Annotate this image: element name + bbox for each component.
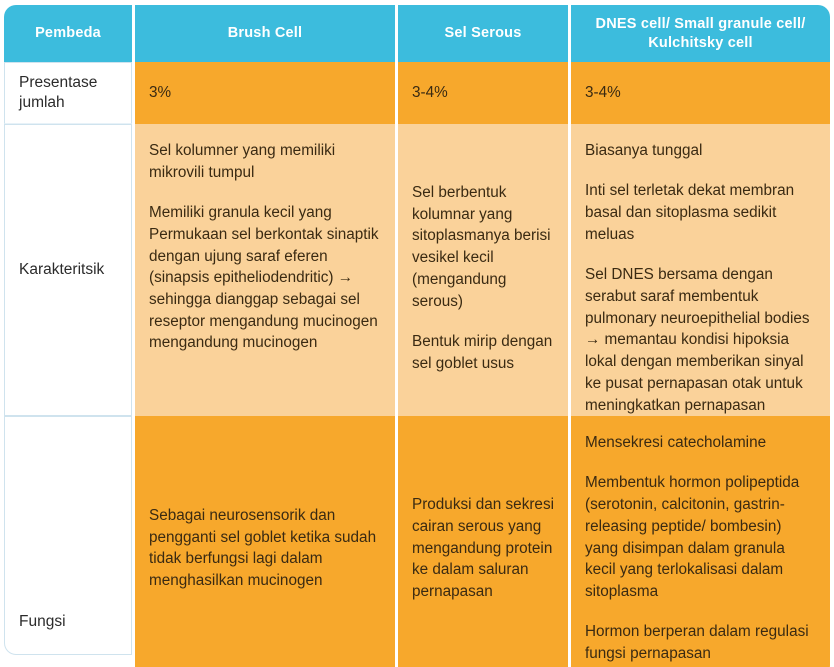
row-label-karakteritsik: Karakteritsik <box>4 124 132 416</box>
row-label-text: Fungsi <box>19 612 66 632</box>
cell-karakteritsik-sel-serous: Sel berbentuk kolumnar yang sitoplasmany… <box>398 124 568 428</box>
row-label-text: Karakteritsik <box>19 260 104 280</box>
cell-paragraph: Bentuk mirip dengan sel goblet usus <box>412 331 554 374</box>
cell-paragraph: Inti sel terletak dekat membran basal da… <box>585 180 816 245</box>
cell-paragraph: Sel kolumner yang memiliki mikrovili tum… <box>149 140 381 183</box>
data-column-group: 3% 3-4% 3-4% Sel kolumner yang memiliki … <box>135 5 830 660</box>
cell-paragraph: Memiliki granula kecil yang Permukaan se… <box>149 202 381 354</box>
cell-karakteritsik-brush-cell: Sel kolumner yang memiliki mikrovili tum… <box>135 124 395 428</box>
cell-paragraph: Sebagai neurosensorik dan pengganti sel … <box>149 505 381 592</box>
row-label-presentase-jumlah: Presentase jumlah <box>4 62 132 124</box>
cell-fungsi-dnes-cell: Mensekresi catecholamine Membentuk hormo… <box>571 416 830 667</box>
table-row-fungsi: Sebagai neurosensorik dan pengganti sel … <box>135 416 830 660</box>
table-row-karakteritsik: Sel kolumner yang memiliki mikrovili tum… <box>135 124 830 416</box>
cell-presentase-sel-serous: 3-4% <box>398 62 568 124</box>
table-row-presentase-jumlah: 3% 3-4% 3-4% <box>135 62 830 124</box>
cell-fungsi-sel-serous: Produksi dan sekresi cairan serous yang … <box>398 416 568 667</box>
cell-presentase-brush-cell: 3% <box>135 62 395 124</box>
cell-paragraph: Biasanya tunggal <box>585 140 816 162</box>
table-body: Presentase jumlah Karakteritsik Fungsi 3… <box>4 5 830 660</box>
label-header-spacer <box>4 5 132 62</box>
cell-fungsi-brush-cell: Sebagai neurosensorik dan pengganti sel … <box>135 416 395 667</box>
cell-paragraph: 3-4% <box>585 82 816 104</box>
row-label-text: Presentase jumlah <box>19 73 131 113</box>
cell-paragraph: Sel DNES bersama dengan serabut saraf me… <box>585 264 816 416</box>
cell-presentase-dnes-cell: 3-4% <box>571 62 830 124</box>
cell-paragraph: Sel berbentuk kolumnar yang sitoplasmany… <box>412 182 554 312</box>
cell-karakteritsik-dnes-cell: Biasanya tunggal Inti sel terletak dekat… <box>571 124 830 428</box>
cell-paragraph: Mensekresi catecholamine <box>585 432 816 454</box>
cell-paragraph: Hormon berperan dalam regulasi fungsi pe… <box>585 621 816 664</box>
row-label-fungsi: Fungsi <box>4 416 132 655</box>
cell-paragraph: 3-4% <box>412 82 554 104</box>
cell-paragraph: Membentuk hormon polipeptida (serotonin,… <box>585 472 816 602</box>
label-column: Presentase jumlah Karakteritsik Fungsi <box>4 5 132 660</box>
data-header-spacer <box>135 5 830 62</box>
cell-paragraph: Produksi dan sekresi cairan serous yang … <box>412 494 554 603</box>
cell-paragraph: 3% <box>149 82 381 104</box>
comparison-table-slide: Pembeda Brush Cell Sel Serous DNES cell/… <box>0 0 834 667</box>
